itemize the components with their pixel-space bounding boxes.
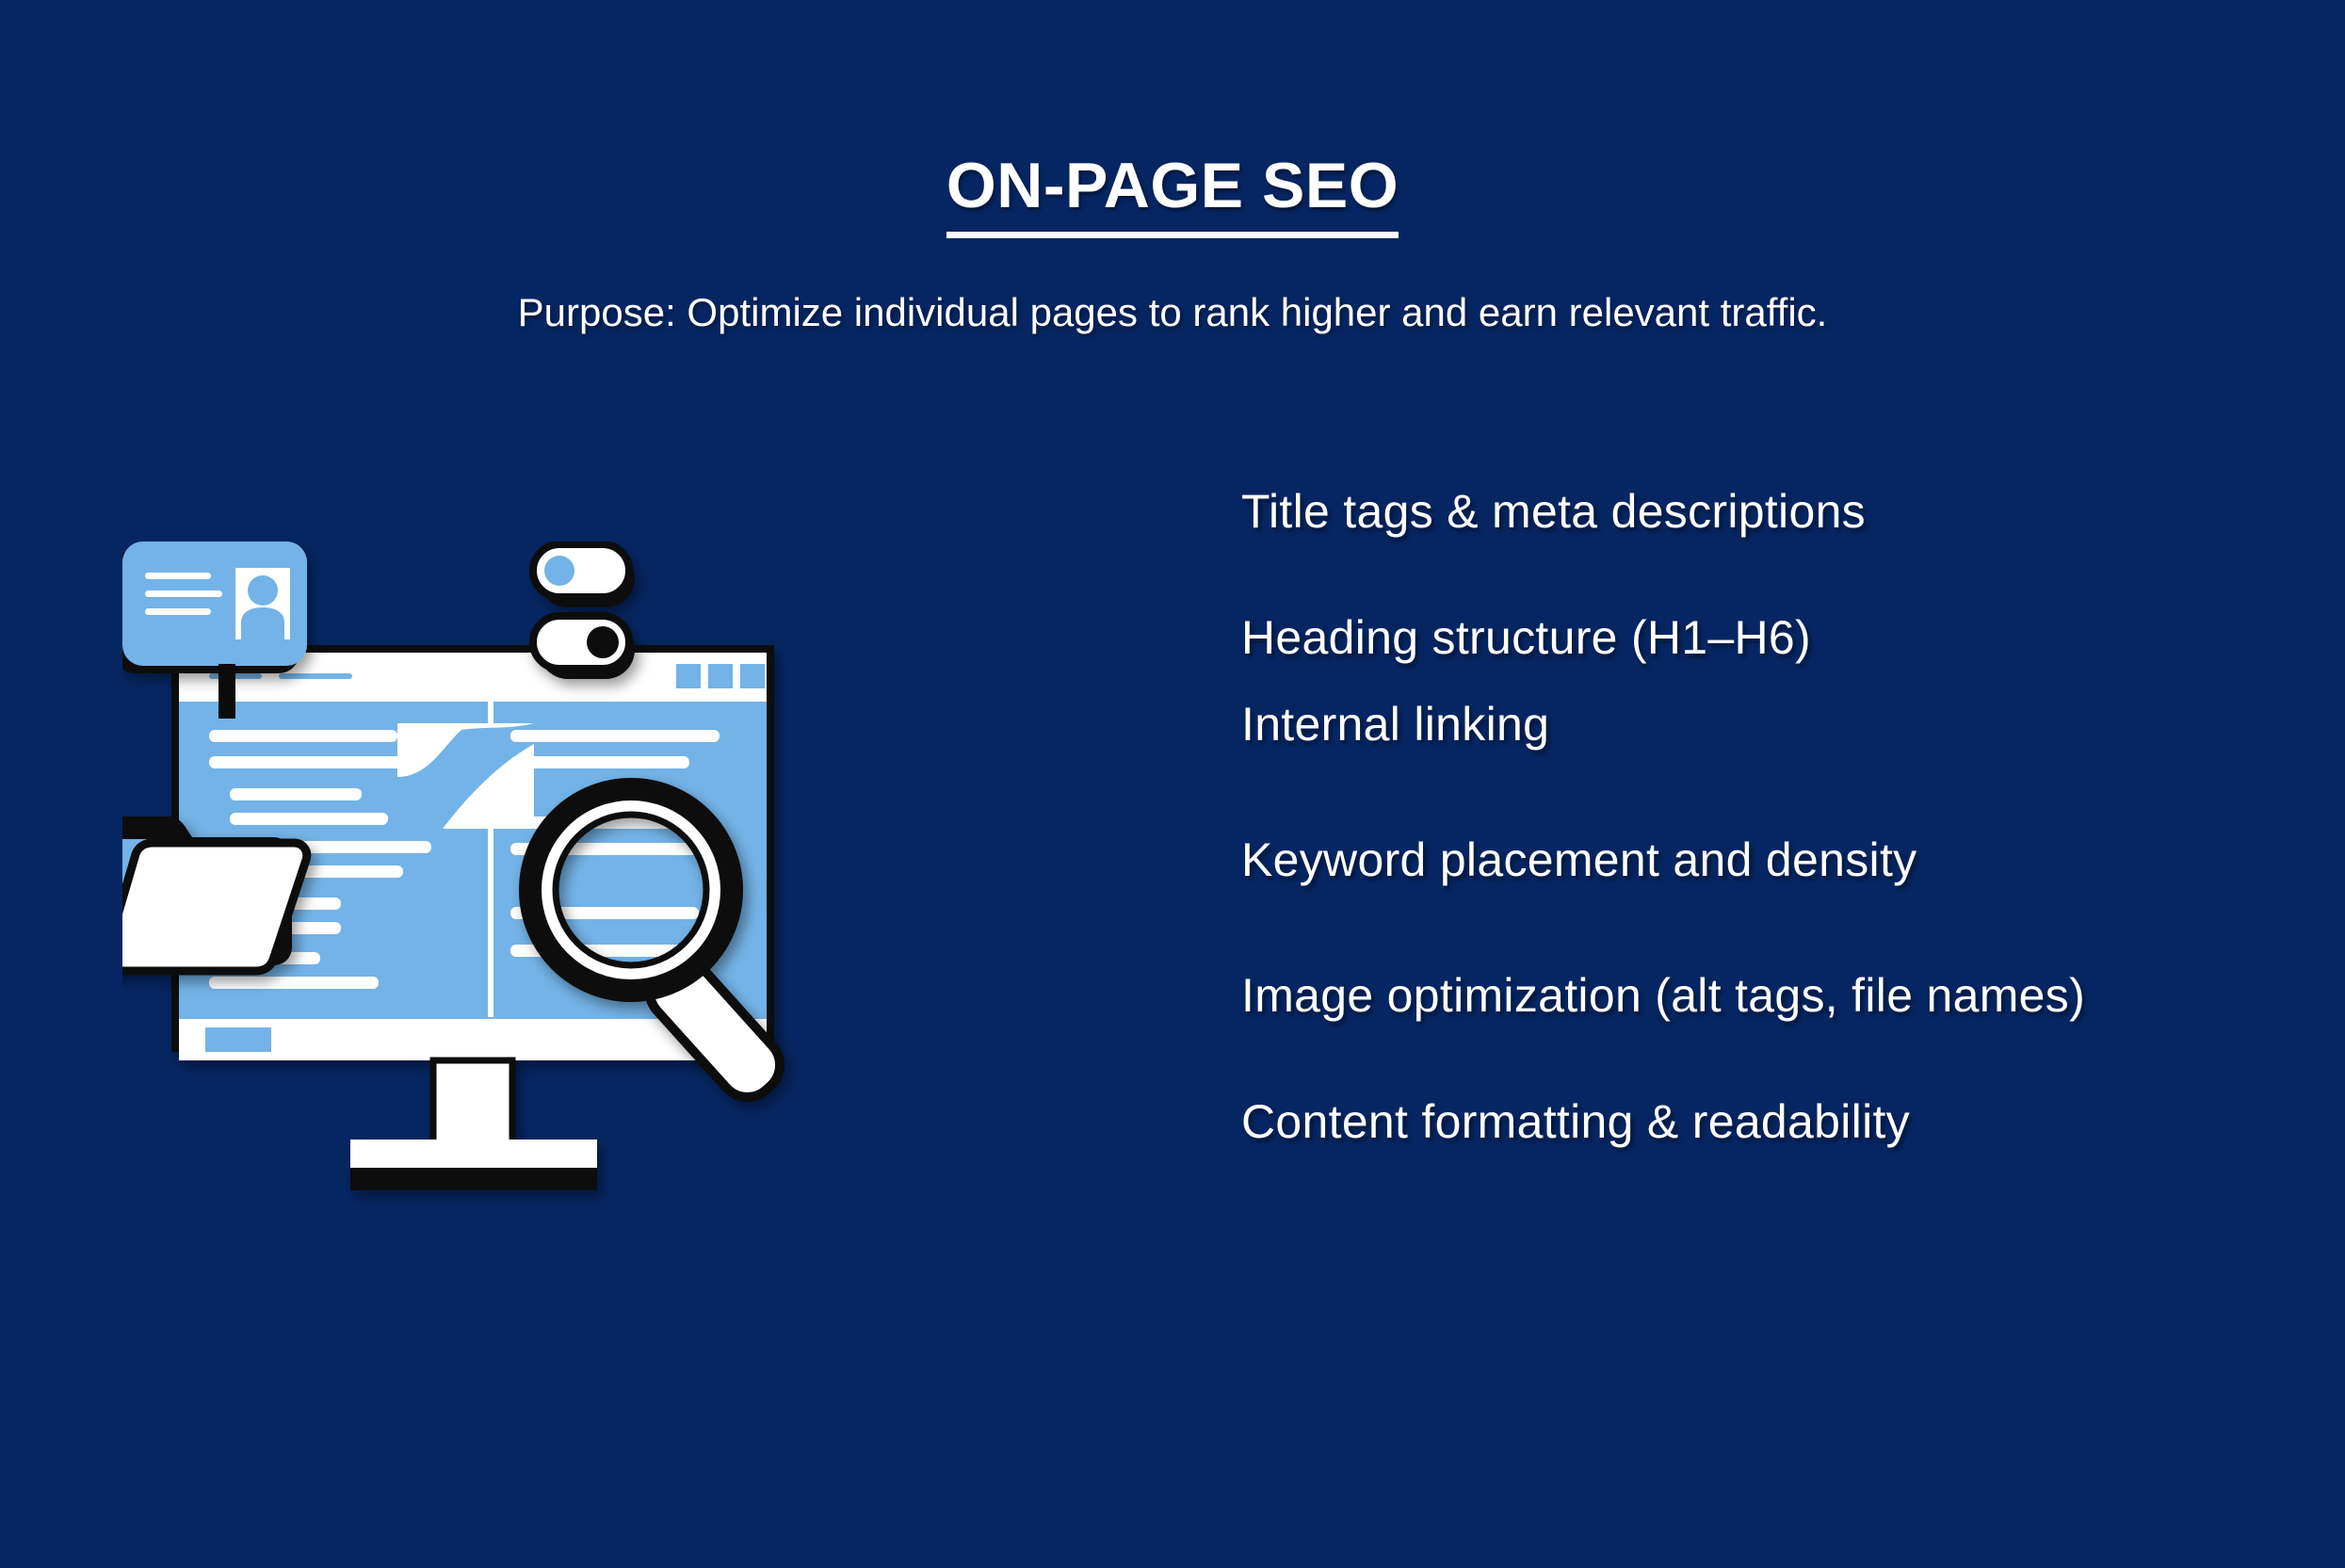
page-subtitle: Purpose: Optimize individual pages to ra…	[0, 290, 2345, 335]
card-connector	[218, 664, 235, 719]
list-item: Image optimization (alt tags, file names…	[1241, 969, 2305, 1022]
list-item: Heading structure (H1–H6)	[1241, 611, 2305, 664]
list-item: Title tags & meta descriptions	[1241, 485, 2305, 538]
toggle-switch-off[interactable]	[533, 616, 635, 679]
file-folder	[122, 816, 307, 971]
page-title-text: ON-PAGE SEO	[946, 149, 1399, 238]
list-item: Content formatting & readability	[1241, 1095, 2305, 1148]
page-title: ON-PAGE SEO	[0, 149, 2345, 238]
list-item: Internal linking	[1241, 698, 2305, 751]
avatar	[235, 568, 290, 639]
profile-card	[122, 542, 307, 673]
taskbar-tab	[205, 1027, 271, 1052]
list-item: Keyword placement and density	[1241, 833, 2305, 886]
toggle-knob-blue	[544, 556, 574, 586]
toggle-switch-on[interactable]	[533, 544, 635, 607]
feature-list: Title tags & meta descriptions Heading s…	[1241, 485, 2305, 1148]
toggle-knob-black	[587, 626, 619, 658]
seo-monitor-illustration	[122, 542, 1234, 1238]
